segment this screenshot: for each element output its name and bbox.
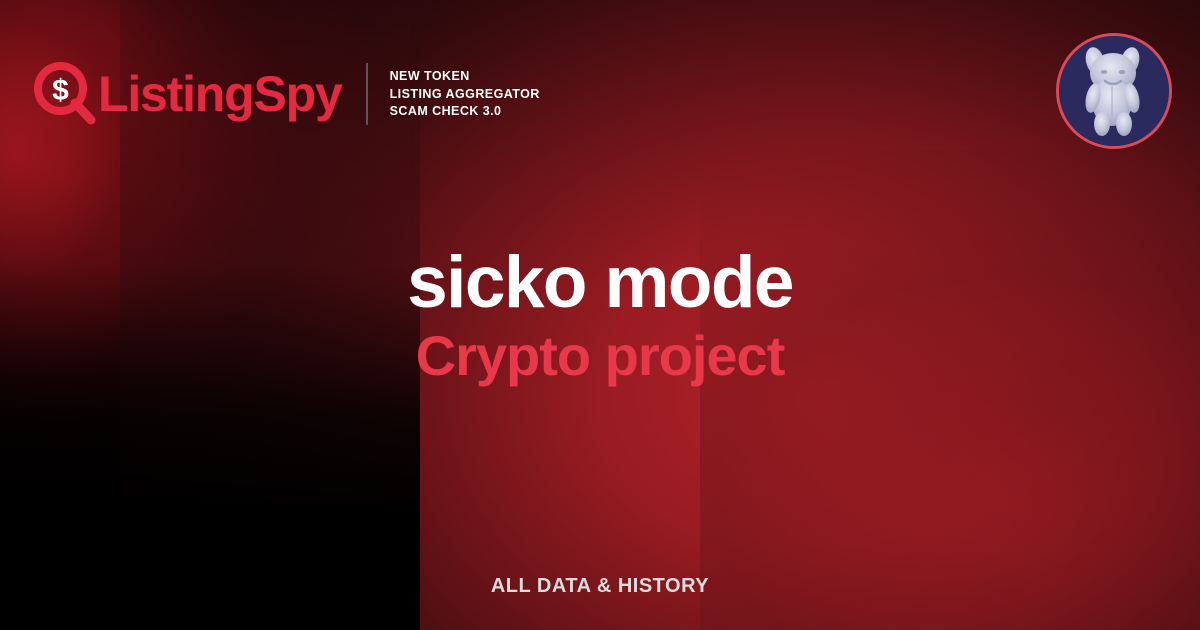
brand-name: ListingSpy bbox=[98, 69, 342, 119]
brand-tagline: NEW TOKEN LISTING AGGREGATOR SCAM CHECK … bbox=[390, 69, 540, 119]
tagline-line-1: NEW TOKEN bbox=[390, 69, 540, 84]
page-subtitle: Crypto project bbox=[0, 326, 1200, 385]
tagline-line-3: SCAM CHECK 3.0 bbox=[390, 104, 540, 119]
tagline-line-2: LISTING AGGREGATOR bbox=[390, 87, 540, 102]
svg-text:$: $ bbox=[52, 74, 69, 107]
footer: ALL DATA & HISTORY bbox=[0, 575, 1200, 598]
magnifier-dollar-icon: $ bbox=[34, 62, 96, 126]
background-glow-right-edge bbox=[700, 150, 1200, 630]
header: $ ListingSpy NEW TOKEN LISTING AGGREGATO… bbox=[0, 0, 1200, 170]
page-title: sicko mode bbox=[0, 246, 1200, 320]
project-avatar[interactable] bbox=[1056, 33, 1172, 149]
token-mascot-avatar-icon bbox=[1059, 36, 1169, 146]
brand-logo[interactable]: $ ListingSpy NEW TOKEN LISTING AGGREGATO… bbox=[34, 54, 540, 134]
footer-caption: ALL DATA & HISTORY bbox=[0, 575, 1200, 598]
hero-block: sicko mode Crypto project bbox=[0, 246, 1200, 386]
page-canvas: $ ListingSpy NEW TOKEN LISTING AGGREGATO… bbox=[0, 0, 1200, 630]
brand-divider bbox=[366, 63, 368, 125]
